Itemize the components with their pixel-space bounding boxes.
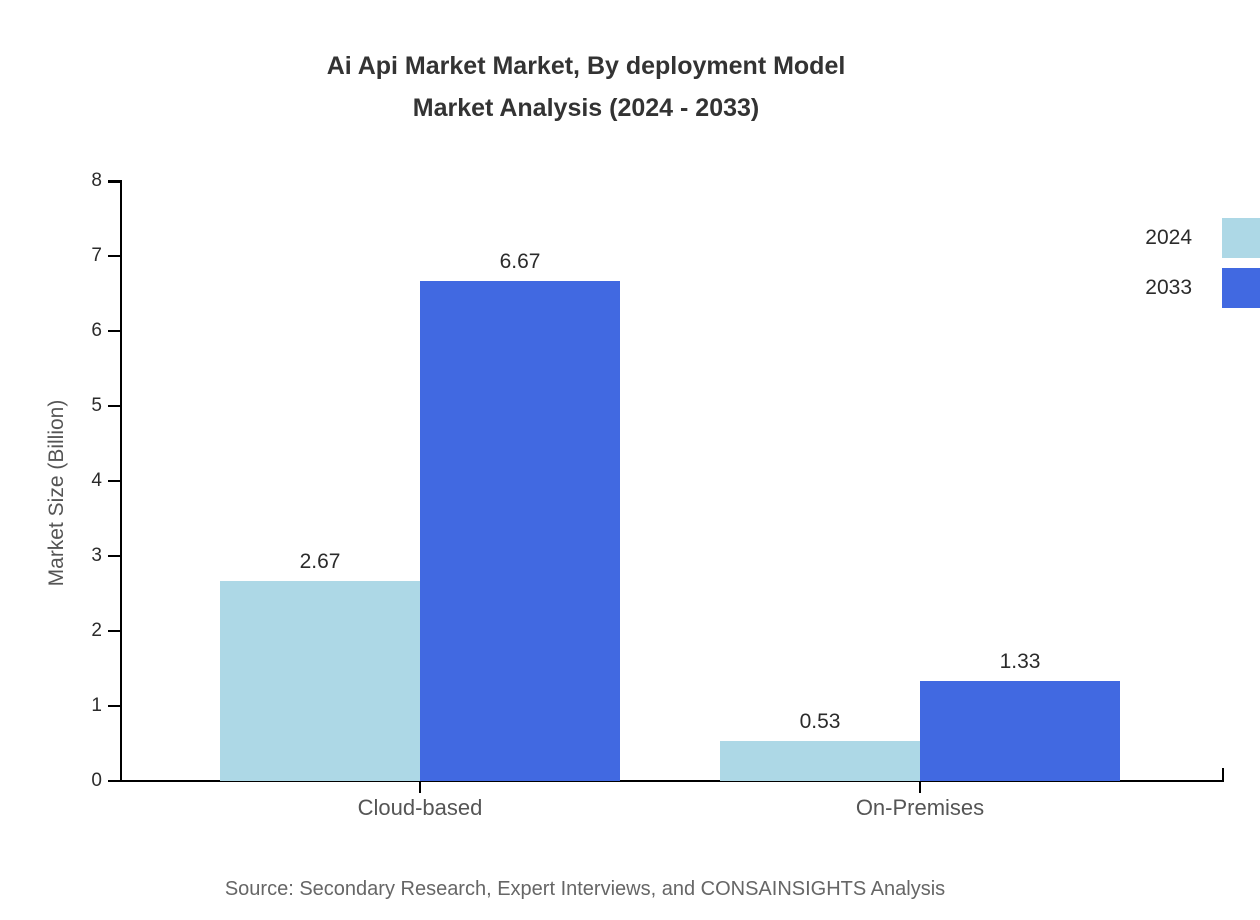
y-tick-label-2: 2 (42, 621, 102, 640)
chart-legend: 2024 2033 (1100, 218, 1260, 310)
plot-area (120, 181, 1224, 781)
y-tick-label-5: 5 (42, 396, 102, 415)
bar-value-cloud-based-2033: 6.67 (420, 250, 620, 274)
legend-swatch-2024 (1222, 218, 1260, 258)
x-tick-label-cloud-based: Cloud-based (270, 795, 570, 821)
y-tick-label-0: 0 (42, 771, 102, 790)
legend-swatch-2033 (1222, 268, 1260, 308)
legend-label-2024: 2024 (1145, 226, 1192, 250)
source-note: Source: Secondary Research, Expert Inter… (0, 878, 1260, 901)
bar-on-premises-2033[interactable] (920, 681, 1120, 781)
chart-title-line-1: Ai Api Market Market, By deployment Mode… (0, 45, 1260, 87)
source-note-text: Source: Secondary Research, Expert Inter… (0, 878, 1260, 901)
x-tick-on-premises (919, 780, 921, 793)
legend-item-2024[interactable]: 2024 (1100, 218, 1260, 258)
y-tick-label-6: 6 (42, 321, 102, 340)
chart-figure: Ai Api Market Market, By deployment Mode… (0, 0, 1260, 920)
y-tick-label-8: 8 (42, 171, 102, 190)
legend-label-2033: 2033 (1145, 276, 1192, 300)
legend-item-2033[interactable]: 2033 (1100, 268, 1260, 308)
y-tick-label-3: 3 (42, 546, 102, 565)
x-tick-label-on-premises: On-Premises (770, 795, 1070, 821)
bar-cloud-based-2024[interactable] (220, 581, 420, 781)
bar-on-premises-2024[interactable] (720, 741, 920, 781)
bar-value-on-premises-2024: 0.53 (720, 710, 920, 734)
y-tick-label-1: 1 (42, 696, 102, 715)
x-tick-cloud-based (419, 780, 421, 793)
bar-value-on-premises-2033: 1.33 (920, 650, 1120, 674)
bar-cloud-based-2033[interactable] (420, 281, 620, 781)
bar-value-cloud-based-2024: 2.67 (220, 550, 420, 574)
y-tick-label-7: 7 (42, 246, 102, 265)
chart-title: Ai Api Market Market, By deployment Mode… (0, 45, 1260, 129)
chart-title-line-2: Market Analysis (2024 - 2033) (0, 87, 1260, 129)
y-tick-label-4: 4 (42, 471, 102, 490)
